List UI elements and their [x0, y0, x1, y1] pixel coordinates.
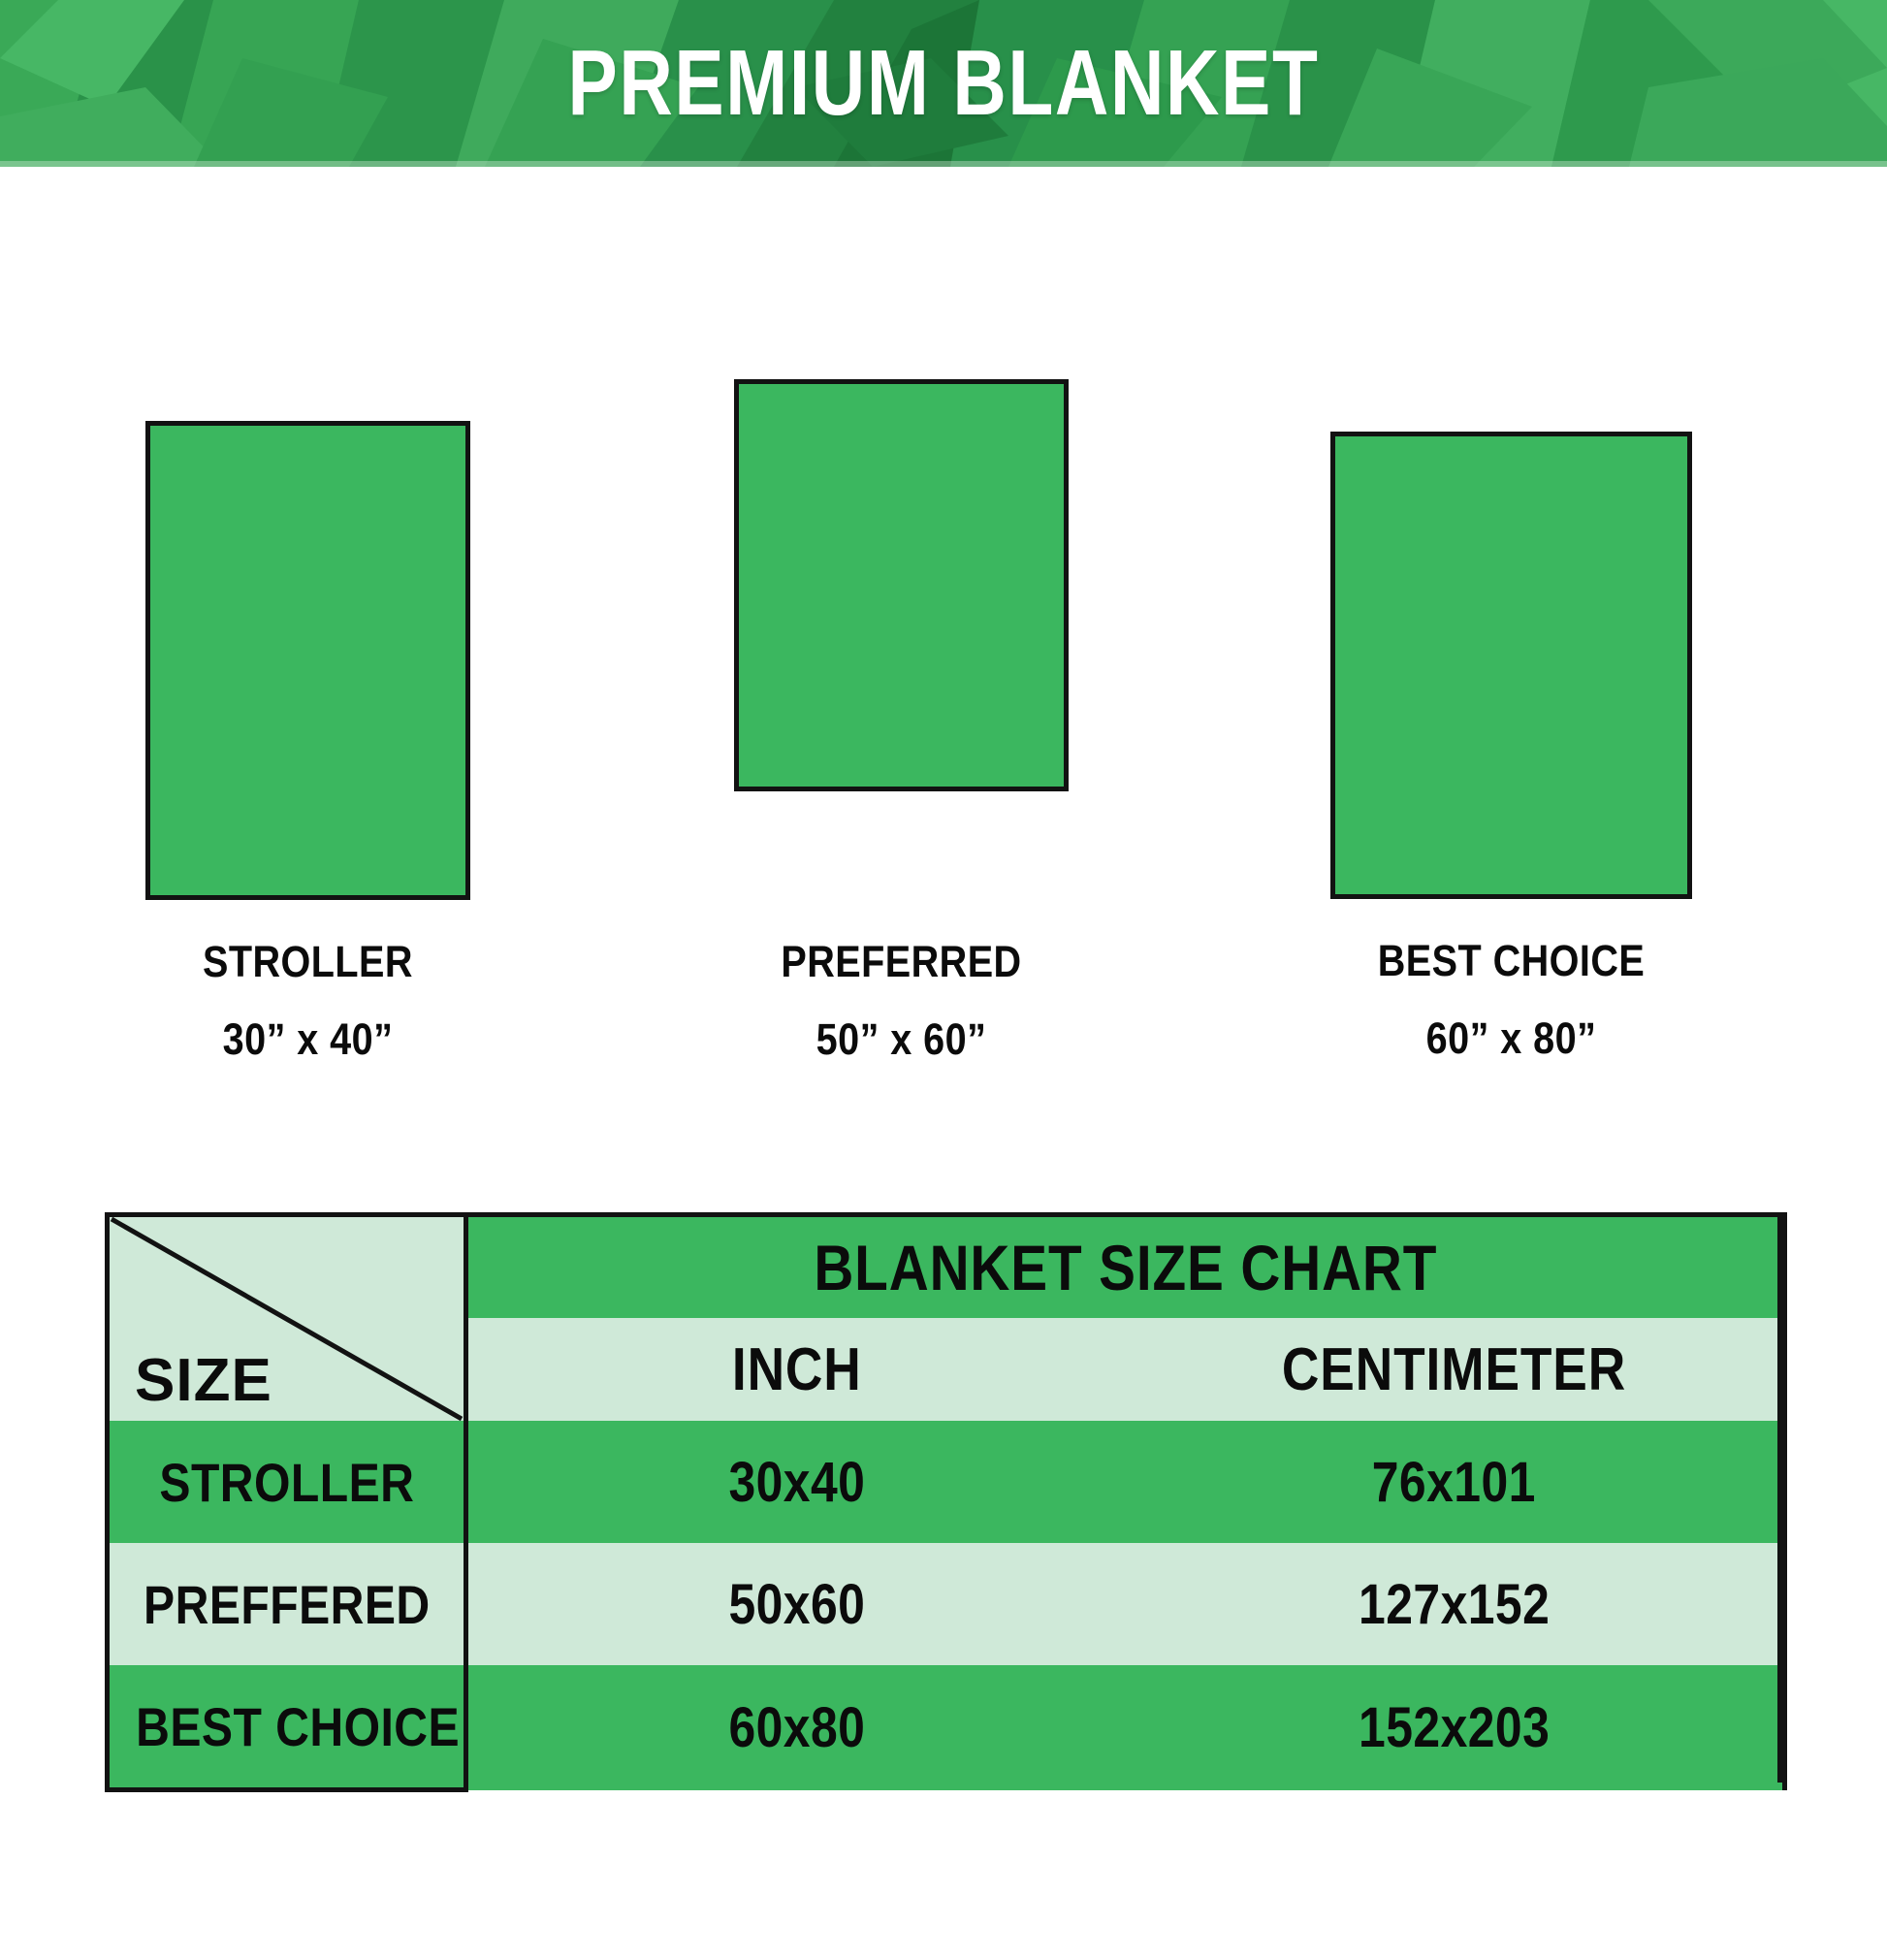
plus-icon [268, 800, 308, 841]
plus-icon [457, 858, 470, 899]
plus-icon [1036, 509, 1069, 550]
plus-icon [1596, 654, 1637, 694]
swatch-dims-preferred: 50” x 60” [754, 1014, 1049, 1065]
plus-icon [910, 645, 950, 686]
plus-icon [847, 451, 887, 492]
plus-icon [1344, 498, 1385, 539]
plus-icon [331, 723, 371, 763]
plus-icon [1533, 869, 1574, 899]
blanket-size-chart-table: SIZE BLANKET SIZE CHART INCH CENTIMETER … [105, 1212, 1782, 1783]
swatch-gallery: STROLLER 30” x 40” [0, 167, 1887, 1175]
cell-centimeter-stroller: 76x101 [1126, 1421, 1785, 1543]
plus-icon [973, 587, 1013, 627]
blanket-swatch-best-choice [1330, 432, 1692, 899]
table-corner-cell: SIZE [108, 1215, 466, 1422]
plus-icon [1596, 809, 1637, 850]
plus-icon [145, 800, 182, 841]
plus-icon [1470, 654, 1511, 694]
plus-icon [1344, 809, 1385, 850]
plus-icon [910, 379, 950, 414]
column-header-centimeter: CENTIMETER [1126, 1318, 1785, 1421]
plus-icon [205, 723, 245, 763]
plus-icon [1533, 576, 1574, 617]
plus-icon [784, 509, 824, 550]
plus-icon [734, 393, 756, 434]
plus-icon [784, 645, 824, 686]
row-label-best-choice: BEST CHOICE [108, 1665, 466, 1790]
plus-icon [1659, 731, 1692, 772]
plus-icon [973, 723, 1013, 763]
plus-icon [910, 761, 950, 791]
plus-icon [1407, 869, 1448, 899]
page-header: PREMIUM BLANKET [0, 0, 1887, 167]
plus-icon [734, 723, 761, 763]
swatch-dims-best-choice: 60” x 80” [1352, 1013, 1670, 1064]
plus-icon [1533, 432, 1574, 462]
plus-icon [1036, 379, 1069, 414]
column-header-inch: INCH [466, 1318, 1126, 1421]
plus-icon [394, 645, 434, 686]
blanket-swatch-preferred [734, 379, 1069, 791]
plus-icon [145, 432, 168, 472]
table-right-border [1777, 1212, 1782, 1783]
plus-icon [1407, 731, 1448, 772]
plus-icon [910, 509, 950, 550]
swatch-dims-stroller: 30” x 40” [165, 1014, 451, 1065]
plus-icon [1470, 498, 1511, 539]
plus-icon [1659, 432, 1692, 462]
plus-icon [734, 509, 756, 550]
plus-icon [784, 379, 824, 414]
plus-icon [457, 567, 470, 608]
plus-icon [205, 858, 245, 899]
plus-icon [1344, 654, 1385, 694]
plus-icon [1470, 809, 1511, 850]
row-label-stroller: STROLLER [108, 1421, 466, 1543]
plus-icon [457, 723, 470, 763]
cell-inch-preffered: 50x60 [466, 1543, 1126, 1665]
plus-icon [394, 800, 434, 841]
table-corner-label: SIZE [135, 1346, 272, 1415]
plus-icon [145, 645, 182, 686]
plus-icon [1596, 498, 1637, 539]
plus-icon [331, 567, 371, 608]
plus-icon [331, 421, 371, 453]
plus-icon [847, 723, 887, 763]
plus-icon [268, 490, 308, 530]
plus-icon [734, 587, 761, 627]
page-title: PREMIUM BLANKET [189, 0, 1699, 167]
plus-icon [331, 858, 371, 899]
plus-icon [1407, 432, 1448, 462]
plus-icon [394, 490, 434, 530]
swatch-label-preferred: PREFERRED [754, 937, 1049, 987]
table-top-border [105, 1212, 1782, 1217]
swatch-label-best-choice: BEST CHOICE [1352, 936, 1670, 986]
plus-icon [847, 587, 887, 627]
table-title: BLANKET SIZE CHART [466, 1215, 1785, 1319]
plus-icon [734, 645, 756, 686]
cell-inch-stroller: 30x40 [466, 1421, 1126, 1543]
cell-inch-best-choice: 60x80 [466, 1665, 1126, 1790]
table-title-row: SIZE BLANKET SIZE CHART [108, 1215, 1785, 1319]
plus-icon [1659, 576, 1692, 617]
plus-icon [784, 761, 824, 791]
blanket-swatch-stroller [145, 421, 470, 900]
cell-centimeter-best-choice: 152x203 [1126, 1665, 1785, 1790]
plus-icon [268, 645, 308, 686]
cell-centimeter-preffered: 127x152 [1126, 1543, 1785, 1665]
plus-icon [1659, 869, 1692, 899]
row-label-preffered: PREFFERED [108, 1543, 466, 1665]
plus-icon [1407, 576, 1448, 617]
plus-icon [205, 567, 245, 608]
plus-icon [973, 451, 1013, 492]
swatch-label-stroller: STROLLER [165, 937, 451, 987]
plus-icon [145, 490, 182, 530]
table-row: PREFFERED 50x60 127x152 [108, 1543, 1785, 1665]
plus-icon [205, 421, 245, 453]
plus-icon [1533, 731, 1574, 772]
plus-icon [734, 451, 761, 492]
plus-icon [1036, 645, 1069, 686]
plus-icon [1036, 761, 1069, 791]
plus-icon [457, 421, 470, 453]
table-row: BEST CHOICE 60x80 152x203 [108, 1665, 1785, 1790]
table-row: STROLLER 30x40 76x101 [108, 1421, 1785, 1543]
